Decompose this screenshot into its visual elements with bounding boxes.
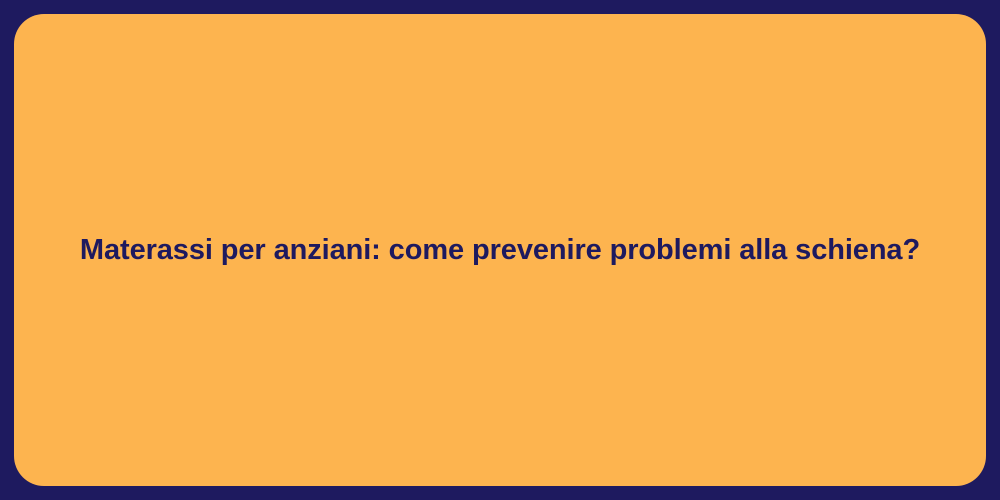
page-title: Materassi per anziani: come prevenire pr…	[80, 232, 920, 268]
banner-card: Materassi per anziani: come prevenire pr…	[14, 14, 986, 486]
banner-frame: Materassi per anziani: come prevenire pr…	[0, 0, 1000, 500]
